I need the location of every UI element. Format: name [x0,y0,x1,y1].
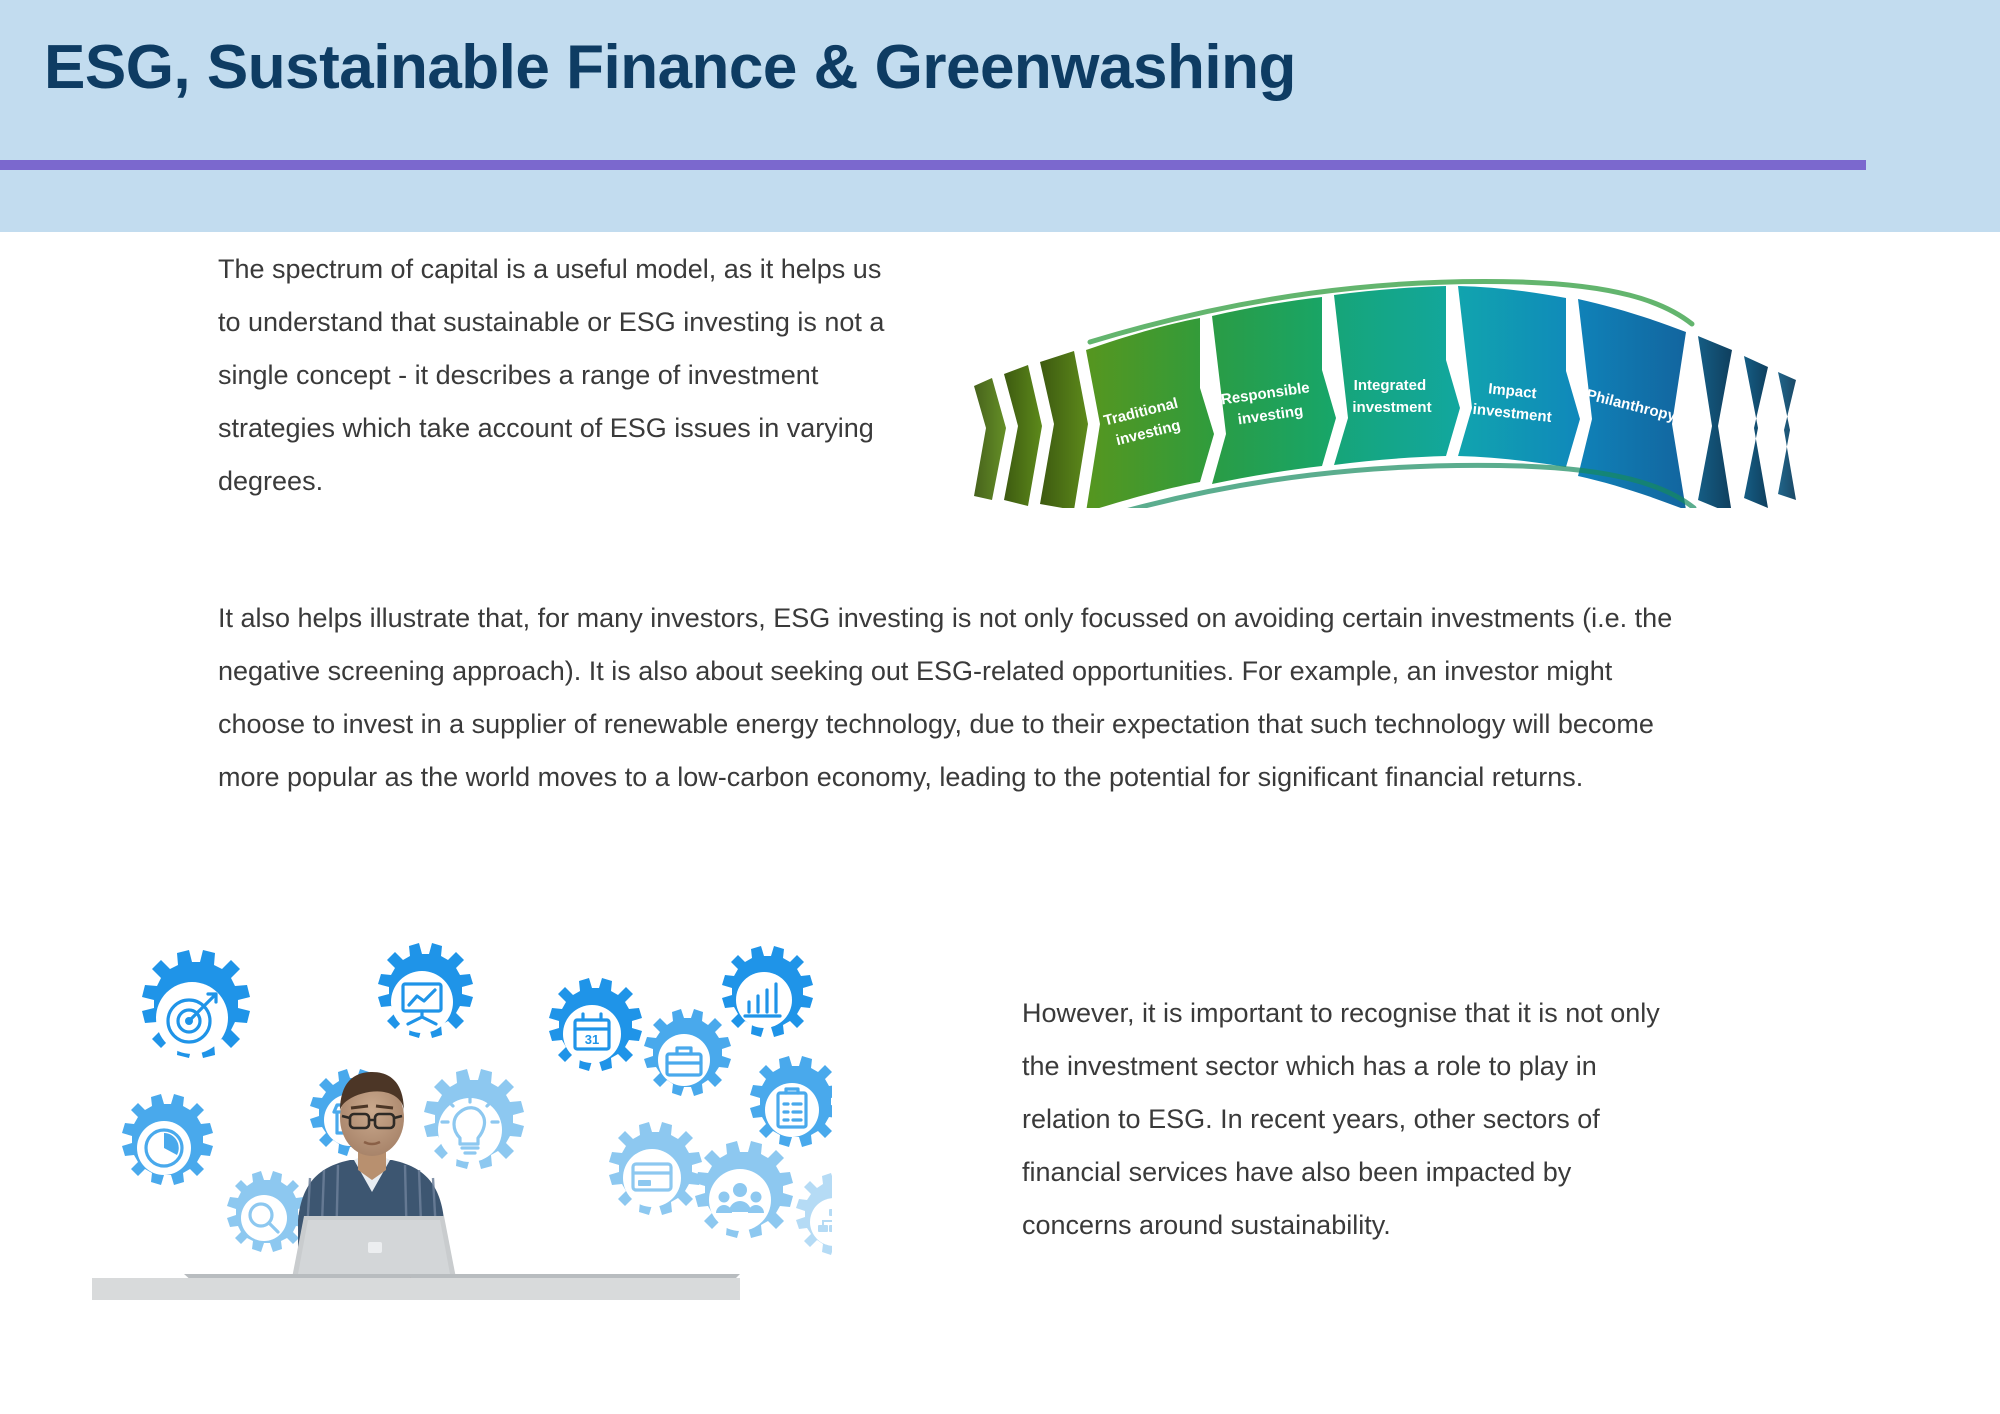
page-title: ESG, Sustainable Finance & Greenwashing [44,32,1296,103]
gear-target-icon [142,950,250,1058]
gear-credit-card-icon [609,1122,702,1215]
spectrum-segment-philanthropy: Philanthropy [1578,299,1686,508]
desk-front [92,1278,740,1300]
gear-bar-chart-icon [722,946,813,1037]
gear-clock-icon [122,1094,213,1185]
gear-calendar-icon: 31 [549,978,642,1071]
calendar-day-number: 31 [585,1032,599,1047]
gear-clipboard-icon [750,1056,832,1147]
gear-magnifier-icon [227,1171,307,1252]
spectrum-segment-responsible: Responsible investing [1212,297,1336,484]
spectrum-segment-traditional: Traditional investing [1086,318,1214,508]
laptop [292,1216,456,1278]
spectrum-segment-integrated: Integrated investment [1334,286,1460,465]
gears-illustration: .gearD { fill: #1f94e8; } .gearM { fill:… [92,930,832,1300]
gear-briefcase-icon [644,1009,731,1096]
slide-header: ESG, Sustainable Finance & Greenwashing [0,0,2000,232]
header-divider [0,160,1866,170]
gear-presentation-chart-icon [378,943,473,1038]
spectrum-tail-right [1698,336,1796,508]
spectrum-of-capital-diagram: Traditional investing Responsible invest… [962,238,1812,508]
gear-lightbulb-icon [424,1069,524,1169]
paragraph-esg-opportunities: It also helps illustrate that, for many … [218,592,1678,804]
gear-hierarchy-icon [796,1173,832,1255]
gear-people-group-icon [695,1141,793,1238]
segment-label-integrated-line2: investment [1352,399,1431,416]
spectrum-segment-impact: Impact investment [1458,286,1580,467]
paragraph-spectrum-intro: The spectrum of capital is a useful mode… [218,243,908,508]
paragraph-other-sectors: However, it is important to recognise th… [1022,987,1682,1252]
spectrum-tail-left [974,351,1088,508]
segment-label-integrated-line1: Integrated [1354,377,1427,394]
slide: ESG, Sustainable Finance & Greenwashing … [0,0,2000,1414]
